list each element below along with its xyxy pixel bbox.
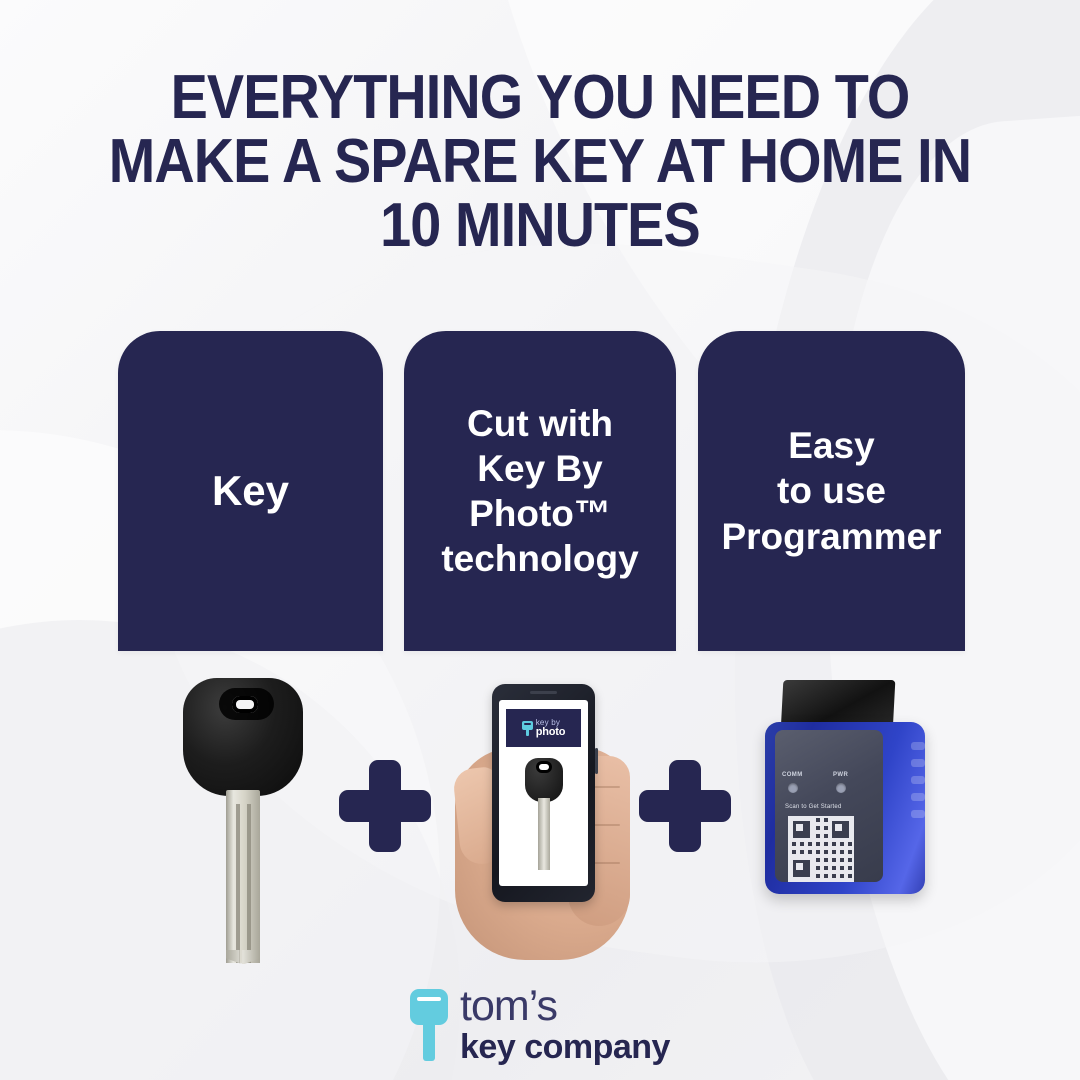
brand-logo: tom’s key company [0, 985, 1080, 1064]
led-label-pwr: PWR [833, 772, 848, 778]
product-row: key by photo [0, 660, 1080, 960]
obd-ribs [911, 742, 925, 862]
feature-card-key-label: Key [200, 465, 301, 516]
key-by-photo-app-banner: key by photo [506, 709, 581, 747]
key-head [183, 678, 303, 796]
phone-body: key by photo [492, 684, 595, 902]
screen-key-blade [538, 798, 550, 870]
key-blade [226, 790, 260, 963]
card2-line-2: Key By [441, 446, 638, 491]
plus-icon-1 [339, 760, 431, 852]
phone-in-hand-image: key by photo [455, 670, 630, 960]
card2-line-3: Photo™ [441, 491, 638, 536]
transponder-key-image [183, 678, 303, 963]
title-line-3: 10 MINUTES [54, 194, 1026, 258]
page-title: EVERYTHING YOU NEED TO MAKE A SPARE KEY … [54, 66, 1026, 258]
card3-line-1: Easy [721, 423, 941, 468]
led-pwr [836, 783, 846, 793]
key-by-photo-icon [522, 721, 533, 736]
plus-icon-2 [639, 760, 731, 852]
logo-text-toms: tom’s [460, 985, 670, 1028]
screen-key-hole [539, 764, 549, 770]
phone-speaker [530, 691, 557, 694]
phone-screen[interactable]: key by photo [499, 700, 588, 886]
title-line-2: MAKE A SPARE KEY AT HOME IN [54, 130, 1026, 194]
qr-code [788, 816, 854, 882]
key-hole [232, 696, 258, 713]
feature-card-programmer-label: Easy to use Programmer [709, 423, 953, 558]
led-comm [788, 783, 798, 793]
title-line-1: EVERYTHING YOU NEED TO [54, 66, 1026, 130]
feature-card-key-by-photo-label: Cut with Key By Photo™ technology [429, 401, 650, 582]
key-groove-1 [236, 804, 240, 963]
card2-line-4: technology [441, 536, 638, 581]
feature-card-key: Key [118, 331, 383, 651]
key-groove-2 [247, 804, 251, 963]
obd-programmer-image: COMM PWR Scan to Get Started [755, 680, 935, 910]
poster-canvas: EVERYTHING YOU NEED TO MAKE A SPARE KEY … [0, 0, 1080, 1080]
scan-to-get-started-label: Scan to Get Started [785, 804, 842, 810]
feature-card-programmer: Easy to use Programmer [698, 331, 965, 651]
app-banner-line-2: photo [536, 727, 566, 738]
card3-line-3: Programmer [721, 514, 941, 559]
logo-key-icon [410, 989, 448, 1061]
card2-line-1: Cut with [441, 401, 638, 446]
phone-side-button[interactable] [595, 748, 598, 774]
screen-key-head [525, 758, 563, 802]
led-label-comm: COMM [782, 772, 803, 778]
screen-key-image [525, 758, 563, 870]
feature-card-key-by-photo: Cut with Key By Photo™ technology [404, 331, 676, 651]
logo-text-key-company: key company [460, 1030, 670, 1064]
card3-line-2: to use [721, 468, 941, 513]
